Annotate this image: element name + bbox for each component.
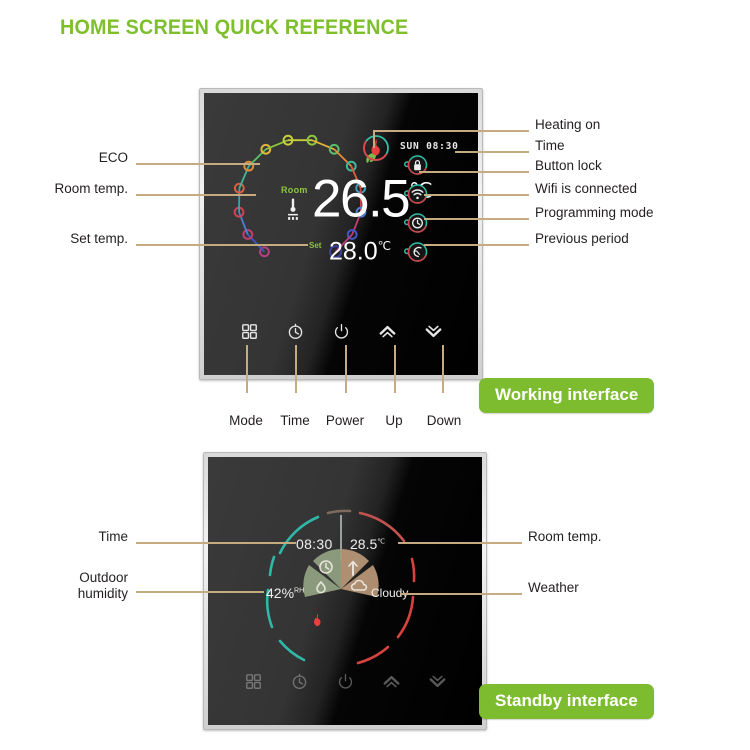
leader-time — [455, 151, 529, 153]
leader-heating-on — [373, 130, 529, 132]
mode-button[interactable] — [242, 670, 264, 692]
callout-set-temp: Set temp. — [38, 231, 128, 247]
label-up: Up — [385, 413, 402, 428]
callout-outdoor-humidity: Outdoor humidity — [28, 570, 128, 601]
working-touch-button-row — [204, 320, 478, 342]
leader-up — [394, 345, 396, 393]
down-button[interactable] — [422, 320, 444, 342]
leader-standby-room-temp — [398, 542, 522, 544]
leader-previous-period — [424, 244, 529, 246]
callout-standby-room-temp: Room temp. — [528, 529, 602, 545]
flame-icon — [361, 133, 391, 163]
leader-standby-weather — [400, 593, 522, 595]
standby-room-temp: 28.5℃ — [350, 536, 385, 552]
leader-standby-time — [136, 542, 296, 544]
leader-heating-on-drop — [373, 130, 375, 148]
callout-wifi-connected: Wifi is connected — [535, 181, 637, 197]
flame-icon — [311, 613, 324, 630]
leader-programming-mode — [424, 218, 529, 220]
time-button[interactable] — [284, 320, 306, 342]
standby-room-temp-number: 28.5 — [350, 536, 377, 552]
label-mode: Mode — [229, 413, 263, 428]
callout-button-lock: Button lock — [535, 158, 602, 174]
callout-eco: ECO — [40, 150, 128, 166]
day-time-display: SUN 08:30 — [400, 141, 459, 152]
leader-eco — [136, 163, 260, 165]
up-button[interactable] — [380, 670, 402, 692]
power-button[interactable] — [334, 670, 356, 692]
time-button[interactable] — [288, 670, 310, 692]
leader-room-temp — [136, 194, 256, 196]
leader-wifi — [424, 194, 529, 196]
leader-time-btn — [295, 345, 297, 393]
up-button[interactable] — [376, 320, 398, 342]
device-glass: SUN 08:30 Room 26.5℃ Set 28.0℃ — [204, 93, 478, 375]
lock-icon[interactable] — [404, 153, 428, 177]
petal-group — [303, 549, 378, 597]
leader-outdoor-humidity — [136, 591, 264, 593]
standby-touch-button-row — [208, 670, 482, 692]
standby-humidity: 42%RH — [266, 585, 304, 601]
room-temp-tag: Room — [281, 185, 308, 195]
working-screen: SUN 08:30 Room 26.5℃ Set 28.0℃ — [204, 93, 478, 375]
working-interface-badge: Working interface — [479, 378, 654, 413]
label-down: Down — [427, 413, 462, 428]
leader-mode — [246, 345, 248, 393]
label-power: Power — [326, 413, 364, 428]
callout-room-temp: Room temp. — [28, 181, 128, 197]
set-temp-tag: Set — [309, 241, 321, 250]
callout-heating-on: Heating on — [535, 117, 600, 133]
label-time: Time — [280, 413, 310, 428]
callout-programming-mode: Programming mode — [535, 205, 654, 221]
standby-humidity-unit: RH — [294, 587, 304, 594]
callout-time: Time — [535, 138, 565, 154]
leader-set-temp — [136, 244, 308, 246]
leader-power — [345, 345, 347, 393]
power-button[interactable] — [330, 320, 352, 342]
status-icon-column — [404, 153, 428, 264]
floor-sensor-icon — [286, 197, 300, 221]
room-temp-number: 26.5 — [312, 170, 409, 229]
page-title: HOME SCREEN QUICK REFERENCE — [60, 16, 408, 40]
mode-button[interactable] — [238, 320, 260, 342]
thermostat-working-device: SUN 08:30 Room 26.5℃ Set 28.0℃ — [199, 88, 483, 380]
leader-button-lock — [419, 171, 529, 173]
set-temperature-value: 28.0℃ — [329, 234, 391, 264]
standby-interface-badge: Standby interface — [479, 684, 654, 719]
callout-previous-period: Previous period — [535, 231, 629, 247]
callout-standby-weather: Weather — [528, 580, 579, 596]
standby-humidity-number: 42% — [266, 585, 294, 601]
callout-standby-time: Time — [48, 529, 128, 545]
programming-mode-icon[interactable] — [404, 211, 428, 235]
leader-down — [442, 345, 444, 393]
down-button[interactable] — [426, 670, 448, 692]
set-temp-number: 28.0 — [329, 237, 378, 265]
standby-time: 08:30 — [296, 536, 333, 552]
set-temp-unit: ℃ — [378, 239, 391, 253]
standby-room-temp-unit: ℃ — [377, 538, 385, 545]
